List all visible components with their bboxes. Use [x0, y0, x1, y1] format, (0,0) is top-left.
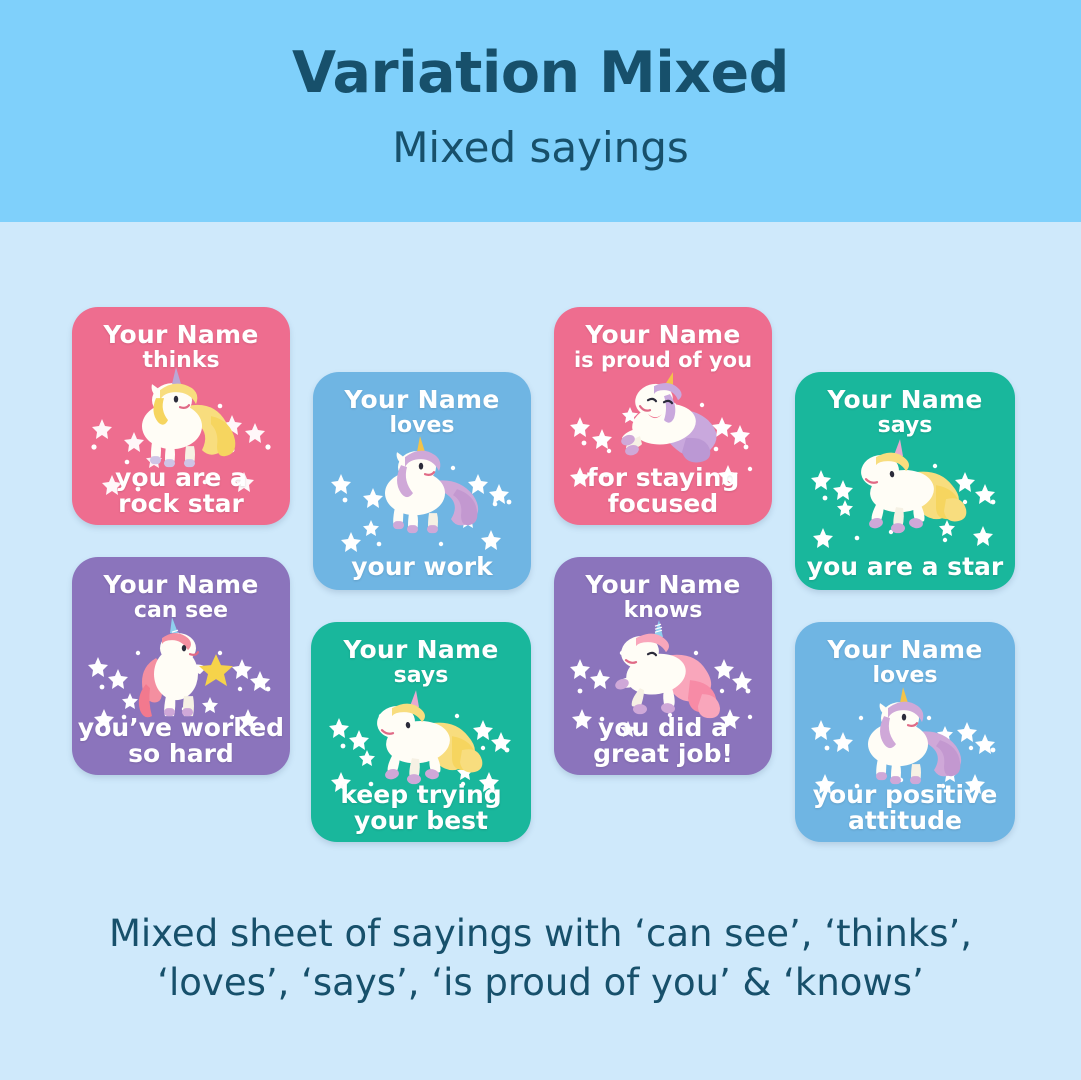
sticker-grid: Your Name thinks you are a rock star — [0, 222, 1081, 902]
footer-line-2: ‘loves’, ‘says’, ‘is proud of you’ & ‘kn… — [0, 959, 1081, 1008]
sticker-name: Your Name — [554, 322, 772, 348]
sticker-message-line2: focused — [554, 491, 772, 517]
sticker-message-line1: you are a — [72, 465, 290, 491]
sticker-loves-positive-attitude[interactable]: Your Name loves your positive attitude — [795, 622, 1015, 842]
sticker-can-see-worked-so-hard[interactable]: Your Name can see you’ve worked so hard — [72, 557, 290, 775]
page-title: Variation Mixed — [292, 44, 789, 104]
footer-line-1: Mixed sheet of sayings with ‘can see’, ‘… — [0, 910, 1081, 959]
sticker-verb: is proud of you — [554, 350, 772, 371]
page-subtitle: Mixed sayings — [392, 126, 689, 170]
sticker-name: Your Name — [554, 572, 772, 598]
sticker-verb: says — [311, 665, 531, 687]
sticker-loves-your-work[interactable]: Your Name loves your work — [313, 372, 531, 590]
unicorn-leaping-lilac-mane — [598, 364, 728, 472]
sticker-message-line2: rock star — [72, 491, 290, 517]
unicorn-prancing-lilac-mane — [840, 680, 970, 788]
unicorn-standing-yellow-mane — [116, 364, 246, 472]
unicorn-holding-star-pink-mane — [116, 614, 246, 722]
sticker-message: for staying focused — [554, 465, 772, 516]
sticker-proud-staying-focused[interactable]: Your Name is proud of you for staying fo… — [554, 307, 772, 525]
sticker-verb: loves — [313, 415, 531, 437]
unicorn-prancing-lilac-mane — [357, 429, 487, 537]
sticker-name: Your Name — [313, 387, 531, 413]
sticker-name: Your Name — [72, 572, 290, 598]
sticker-verb: knows — [554, 600, 772, 622]
footer-caption: Mixed sheet of sayings with ‘can see’, ‘… — [0, 910, 1081, 1008]
sticker-message: you are a rock star — [72, 465, 290, 516]
unicorn-flying-yellow-mane — [356, 680, 486, 788]
sticker-message-line1: for staying — [554, 465, 772, 491]
sticker-message-line2: great job! — [554, 741, 772, 767]
sticker-message-line1: you did a — [554, 715, 772, 741]
sticker-thinks-rock-star[interactable]: Your Name thinks you are a rock star — [72, 307, 290, 525]
sticker-message: your positive attitude — [795, 782, 1015, 833]
header-band: Variation Mixed Mixed sayings — [0, 0, 1081, 222]
sticker-message-line1: your positive — [795, 782, 1015, 808]
sticker-message-line1: you are a star — [795, 554, 1015, 580]
sticker-verb: says — [795, 415, 1015, 437]
unicorn-flying-yellow-mane — [840, 429, 970, 537]
sticker-message-line2: your best — [311, 808, 531, 834]
sticker-message: you’ve worked so hard — [72, 715, 290, 766]
sticker-message-line2: so hard — [72, 741, 290, 767]
sticker-message: your work — [313, 554, 531, 580]
sticker-knows-great-job[interactable]: Your Name knows you did a great job! — [554, 557, 772, 775]
sticker-name: Your Name — [72, 322, 290, 348]
sticker-verb: thinks — [72, 350, 290, 372]
sticker-says-you-are-a-star[interactable]: Your Name says you are a star — [795, 372, 1015, 590]
sticker-verb: loves — [795, 665, 1015, 687]
sticker-name: Your Name — [795, 387, 1015, 413]
sticker-message: you are a star — [795, 554, 1015, 580]
sticker-says-keep-trying[interactable]: Your Name says keep trying your best — [311, 622, 531, 842]
unicorn-leaping-pink-mane — [598, 614, 728, 722]
sticker-message: you did a great job! — [554, 715, 772, 766]
sticker-message-line1: your work — [313, 554, 531, 580]
sticker-name: Your Name — [311, 637, 531, 663]
sticker-message-line1: you’ve worked — [72, 715, 290, 741]
sticker-message: keep trying your best — [311, 782, 531, 833]
sticker-message-line2: attitude — [795, 808, 1015, 834]
sticker-message-line1: keep trying — [311, 782, 531, 808]
sticker-verb: can see — [72, 600, 290, 622]
sticker-name: Your Name — [795, 637, 1015, 663]
